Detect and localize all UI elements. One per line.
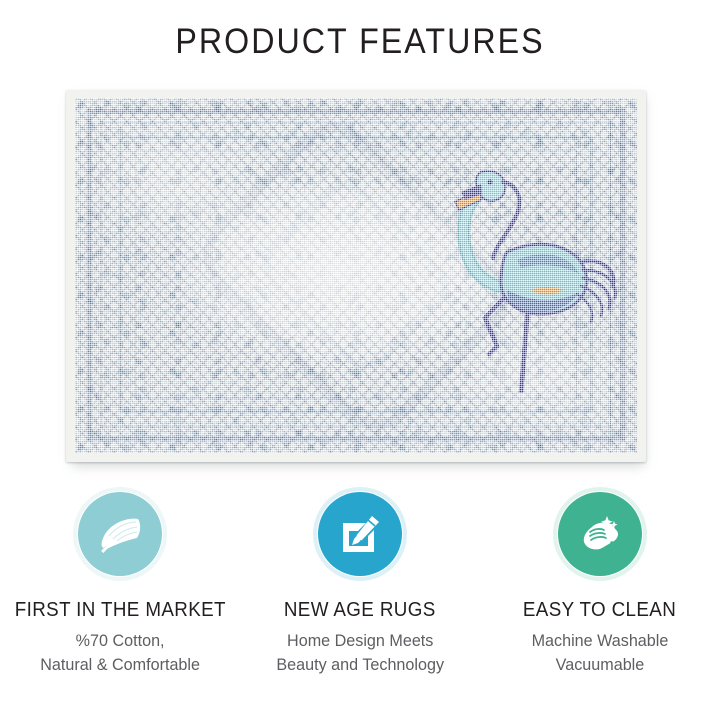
feature-item-easy-to-clean: EASY TO CLEAN Machine Washable Vacuumabl… [480, 492, 720, 677]
design-pen-icon [336, 510, 384, 558]
design-pen-icon-circle [318, 492, 402, 576]
page-title: PRODUCT FEATURES [29, 22, 691, 62]
rug-weave-texture [75, 98, 637, 453]
feather-icon-circle [78, 492, 162, 576]
feature-subtext-line: Natural & Comfortable [40, 653, 200, 677]
feature-item-new-age-rugs: NEW AGE RUGS Home Design Meets Beauty an… [240, 492, 480, 677]
feature-subtext: Home Design Meets Beauty and Technology [276, 629, 444, 677]
feature-title: NEW AGE RUGS [284, 599, 436, 622]
feather-icon [96, 510, 144, 558]
feature-subtext-line: Machine Washable [532, 629, 669, 653]
rug-field [75, 98, 637, 453]
feature-subtext-line: %70 Cotton, [40, 629, 200, 653]
feature-subtext: %70 Cotton, Natural & Comfortable [40, 629, 200, 677]
feature-title: EASY TO CLEAN [523, 599, 676, 622]
cleaning-hand-icon-circle [558, 492, 642, 576]
feature-subtext-line: Home Design Meets [276, 629, 444, 653]
feature-title: FIRST IN THE MARKET [14, 599, 225, 622]
feature-list: FIRST IN THE MARKET %70 Cotton, Natural … [0, 492, 720, 677]
rug [66, 90, 646, 462]
product-rug-image [66, 90, 646, 462]
feature-subtext-line: Beauty and Technology [276, 653, 444, 677]
cleaning-hand-icon [576, 510, 624, 558]
feature-subtext-line: Vacuumable [532, 653, 669, 677]
feature-subtext: Machine Washable Vacuumable [532, 629, 669, 677]
feature-item-first-in-the-market: FIRST IN THE MARKET %70 Cotton, Natural … [0, 492, 240, 677]
